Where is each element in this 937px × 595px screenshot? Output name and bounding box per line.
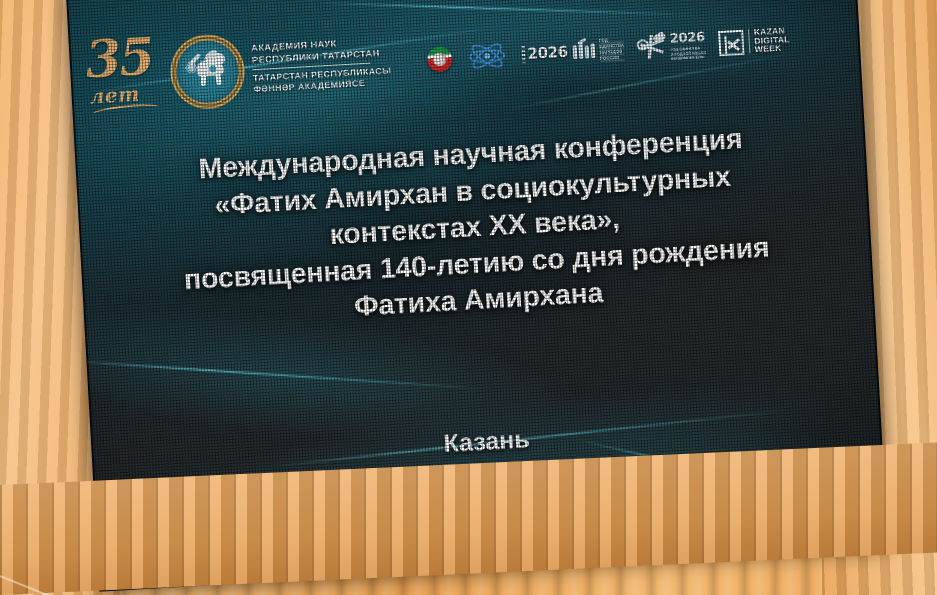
anniversary-35-years-emblem: 35 лет <box>87 35 169 117</box>
person-4 <box>590 43 595 58</box>
leopard-leg-front <box>201 73 207 86</box>
seal-inner <box>183 47 231 95</box>
person-1 <box>572 45 577 59</box>
person-2 <box>578 42 583 59</box>
slide-header: 35 лет <box>87 0 850 117</box>
partner-logo-strip: 2026 ГОД ЕДИНСТВА НАРОДОВ РОСС <box>426 24 791 74</box>
people-silhouette-icon <box>570 39 597 62</box>
person-3 <box>584 45 589 58</box>
ak-bars-winged-leopard-seal <box>175 39 240 104</box>
year-of-unity-2026-logo: 2026 ГОД ЕДИНСТВА НАРОДОВ РОСС <box>521 35 625 67</box>
tatarstan-coat-of-arms-logo <box>426 46 452 72</box>
kazan-digital-week-logo: KAZAN DIGITAL WEEK <box>718 24 791 58</box>
atom-core-icon <box>483 53 489 59</box>
k-stem <box>724 35 728 53</box>
star-logo-text: 2026 ГОД ЕДИНСТВА И РОДНОЙ ЯЗЫКИ БЕРДӘМЛ… <box>669 28 706 61</box>
kdw-divider <box>748 29 750 53</box>
year-of-unity-caption: ГОД ЕДИНСТВА НАРОДОВ РОССИИ <box>599 36 625 61</box>
stripes-icon <box>521 46 525 63</box>
academy-name-block: АКАДЕМИЯ НАУК РЕСПУБЛИКИ ТАТАРСТАН ТАТАР… <box>251 36 392 96</box>
star-logo-year: 2026 <box>669 30 705 47</box>
year-2026-star-logo: 2026 ГОД ЕДИНСТВА И РОДНОЙ ЯЗЫКИ БЕРДӘМЛ… <box>636 29 706 63</box>
star-emblem-icon <box>636 32 668 62</box>
kdw-k-mark-icon <box>718 29 744 55</box>
leopard-head <box>212 53 225 65</box>
conference-stage-photo: 35 лет <box>0 0 937 595</box>
caption-line-4: РОССИИ <box>600 54 625 61</box>
conference-title: Международная научная конференция «Фатих… <box>75 114 874 340</box>
year-of-unity-year: 2026 <box>527 44 568 61</box>
kdw-line-3: WEEK <box>755 43 791 54</box>
kdw-text: KAZAN DIGITAL WEEK <box>754 26 791 54</box>
star-caption-line-3: БЕРДӘМЛЕК ЕЛЫ <box>671 55 706 61</box>
atom-orbit-logo <box>464 42 509 70</box>
anniversary-number: 35 <box>84 32 154 87</box>
